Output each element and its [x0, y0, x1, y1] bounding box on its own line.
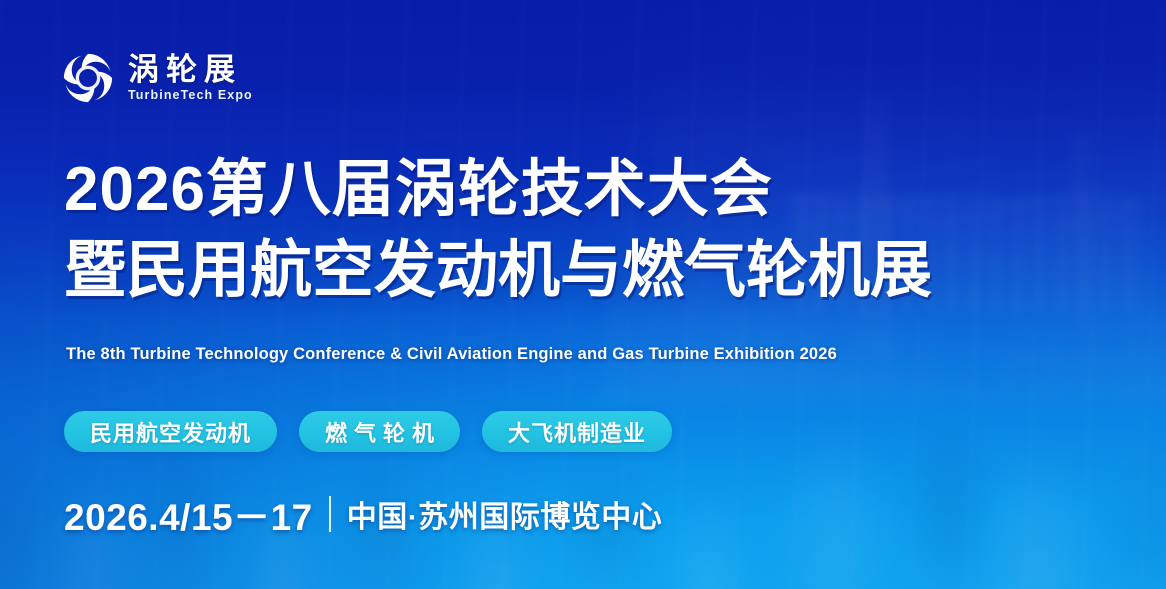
brand-logo-text: 涡轮展 TurbineTech Expo [128, 53, 253, 103]
headline-block: 2026第八届涡轮技术大会 暨民用航空发动机与燃气轮机展 [64, 150, 932, 311]
brand-name-cn: 涡轮展 [128, 53, 253, 86]
topic-pill-civil-aviation-engine[interactable]: 民用航空发动机 [64, 411, 277, 452]
banner-content: 涡轮展 TurbineTech Expo 2026第八届涡轮技术大会 暨民用航空… [0, 0, 1166, 589]
headline-subtitle-en: The 8th Turbine Technology Conference & … [66, 345, 837, 364]
date-venue-line: 2026.4/15－17 中国·苏州国际博览中心 [64, 487, 662, 541]
headline-line-1: 2026第八届涡轮技术大会 [64, 150, 932, 231]
turbine-swirl-logo-icon [60, 50, 116, 106]
topic-pill-large-aircraft[interactable]: 大飞机制造业 [482, 411, 672, 452]
brand-logo[interactable]: 涡轮展 TurbineTech Expo [60, 50, 253, 106]
event-venue: 中国·苏州国际博览中心 [347, 492, 663, 536]
topic-pill-gas-turbine[interactable]: 燃气轮机 [299, 411, 460, 452]
headline-line-2: 暨民用航空发动机与燃气轮机展 [64, 231, 932, 312]
event-date: 2026.4/15－17 [64, 487, 313, 541]
brand-name-en: TurbineTech Expo [128, 88, 253, 103]
expo-banner: 涡轮展 TurbineTech Expo 2026第八届涡轮技术大会 暨民用航空… [0, 0, 1166, 589]
topic-pill-group: 民用航空发动机 燃气轮机 大飞机制造业 [64, 411, 672, 452]
vertical-divider [329, 496, 331, 532]
